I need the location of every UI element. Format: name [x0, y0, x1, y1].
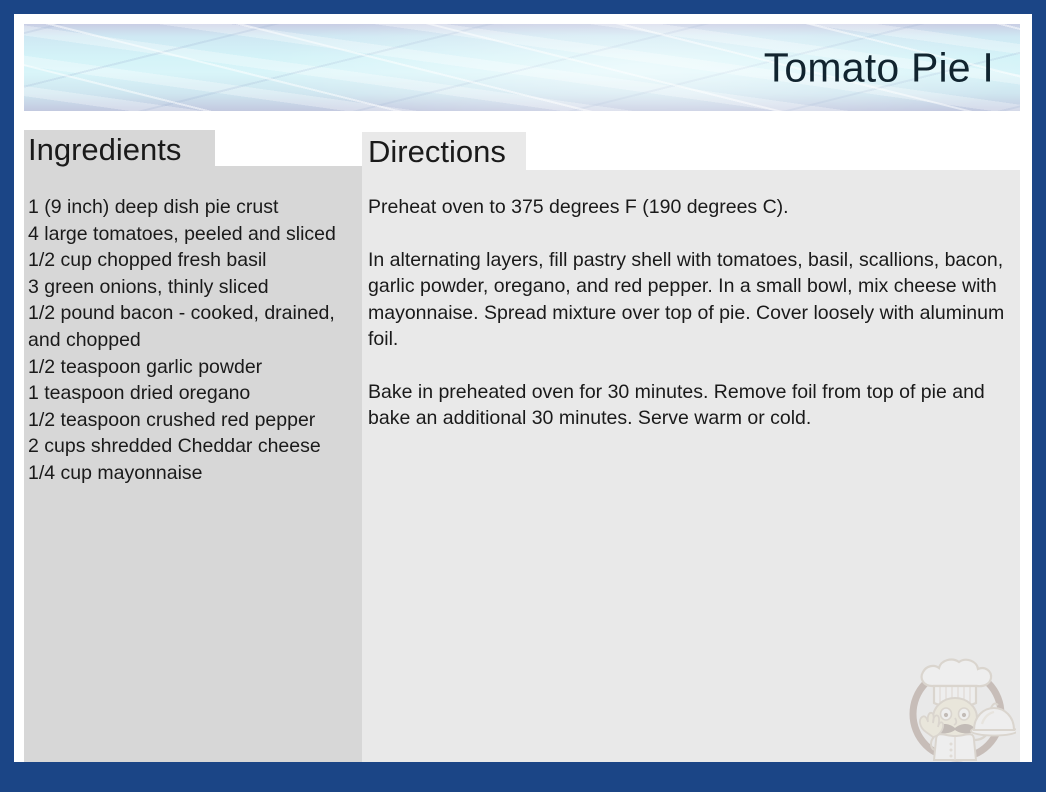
direction-step: In alternating layers, fill pastry shell… — [368, 247, 1016, 353]
list-item: 1 teaspoon dried oregano — [28, 380, 368, 407]
title-banner: Tomato Pie I — [24, 24, 1020, 111]
list-item: 1/2 cup chopped fresh basil — [28, 247, 368, 274]
list-item: 4 large tomatoes, peeled and sliced — [28, 221, 368, 248]
directions-body: Preheat oven to 375 degrees F (190 degre… — [368, 194, 1016, 432]
list-item: 1/2 teaspoon garlic powder — [28, 354, 368, 381]
list-item: 1/2 pound bacon - cooked, drained, and c… — [28, 300, 368, 353]
page-title: Tomato Pie I — [764, 44, 994, 91]
list-item: 1/2 teaspoon crushed red pepper — [28, 407, 368, 434]
direction-step: Bake in preheated oven for 30 minutes. R… — [368, 379, 1016, 432]
list-item: 3 green onions, thinly sliced — [28, 274, 368, 301]
ingredients-heading: Ingredients — [28, 132, 181, 168]
list-item: 1/4 cup mayonnaise — [28, 460, 368, 487]
list-item: 1 (9 inch) deep dish pie crust — [28, 194, 368, 221]
directions-heading: Directions — [368, 134, 506, 170]
recipe-card-slide: Tomato Pie I — [0, 0, 1046, 792]
direction-step: Preheat oven to 375 degrees F (190 degre… — [368, 194, 1016, 221]
slide-content-area: Tomato Pie I — [14, 14, 1032, 762]
ingredients-list: 1 (9 inch) deep dish pie crust 4 large t… — [28, 194, 368, 487]
list-item: 2 cups shredded Cheddar cheese — [28, 433, 368, 460]
